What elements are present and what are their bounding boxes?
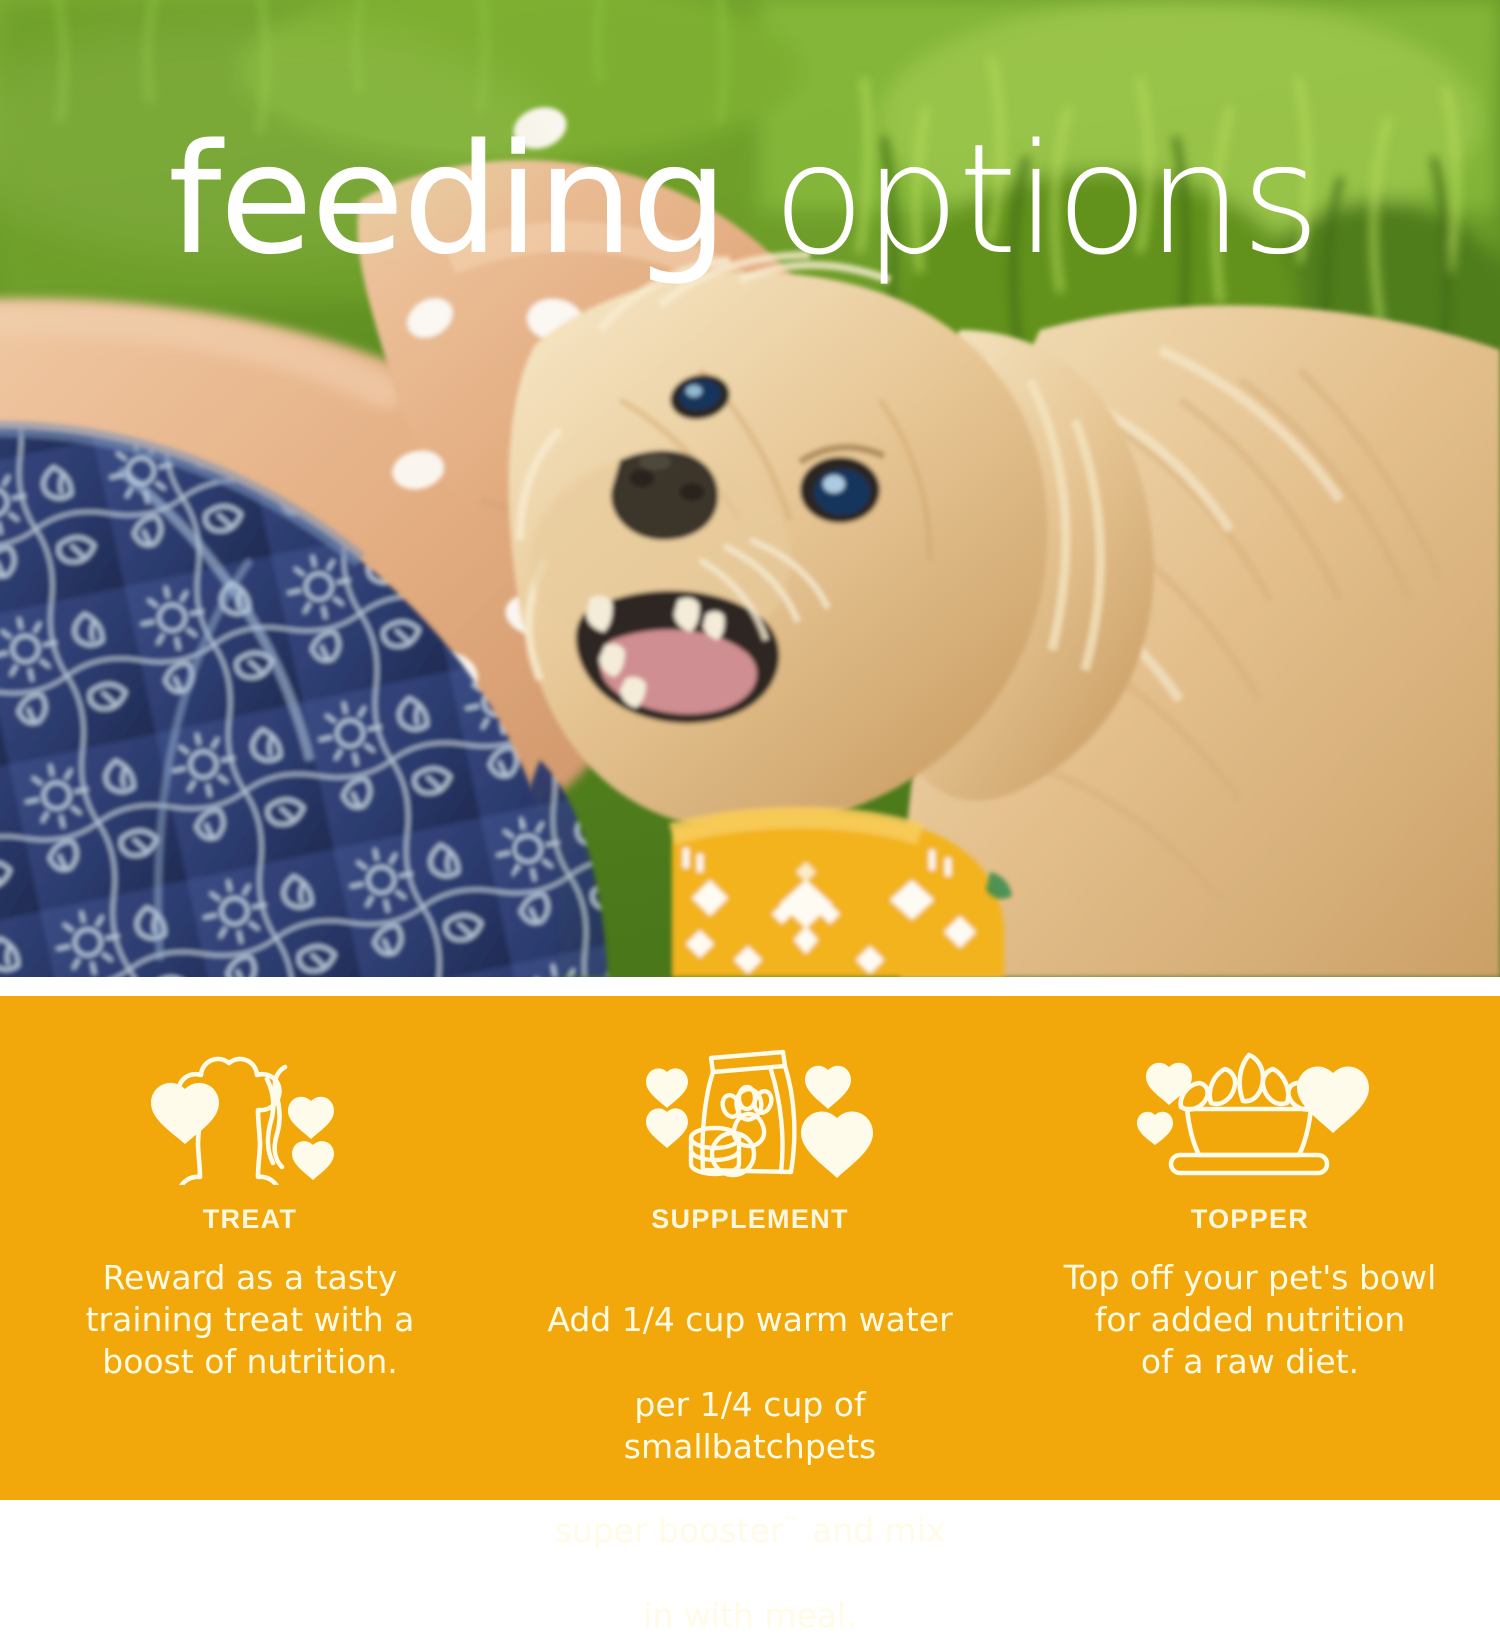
feeding-option-description: Reward as a tasty training treat with a … (86, 1257, 415, 1384)
feeding-options-columns: TREAT Reward as a tasty training treat w… (0, 996, 1500, 1500)
feeding-option-topper: TOPPER Top off your pet's bowl for added… (1000, 1040, 1500, 1500)
desc-line-3-pre: super booster (555, 1511, 784, 1550)
feeding-option-description: Add 1/4 cup warm water per 1/4 cup of sm… (535, 1257, 965, 1637)
feeding-option-label: TOPPER (1191, 1204, 1309, 1235)
feeding-option-description: Top off your pet's bowl for added nutrit… (1064, 1257, 1437, 1384)
photo-panel-divider (0, 977, 1500, 996)
hero-photo: feeding options (0, 0, 1500, 977)
supplement-bag-icon (625, 1040, 875, 1190)
page-title-word-1: feeding (168, 111, 726, 288)
desc-line-3-post: and mix (801, 1511, 945, 1550)
desc-line-1: Add 1/4 cup warm water (547, 1300, 952, 1339)
desc-line-2: per 1/4 cup of smallbatchpets (624, 1385, 876, 1466)
feeding-option-treat: TREAT Reward as a tasty training treat w… (0, 1040, 500, 1500)
dog-bone-treat-icon (135, 1040, 365, 1190)
feeding-options-infographic: feeding options (0, 0, 1500, 1500)
feeding-option-label: TREAT (203, 1204, 298, 1235)
trademark-symbol: ™ (783, 1514, 801, 1535)
feeding-option-label: SUPPLEMENT (651, 1204, 849, 1235)
feeding-options-panel: TREAT Reward as a tasty training treat w… (0, 996, 1500, 1500)
food-bowl-topper-icon (1125, 1040, 1375, 1190)
page-title: feeding options (168, 124, 1318, 276)
page-title-word-2: options (772, 111, 1318, 288)
feeding-option-supplement: SUPPLEMENT Add 1/4 cup warm water per 1/… (500, 1040, 1000, 1500)
desc-line-4: in with meal. (643, 1596, 856, 1635)
